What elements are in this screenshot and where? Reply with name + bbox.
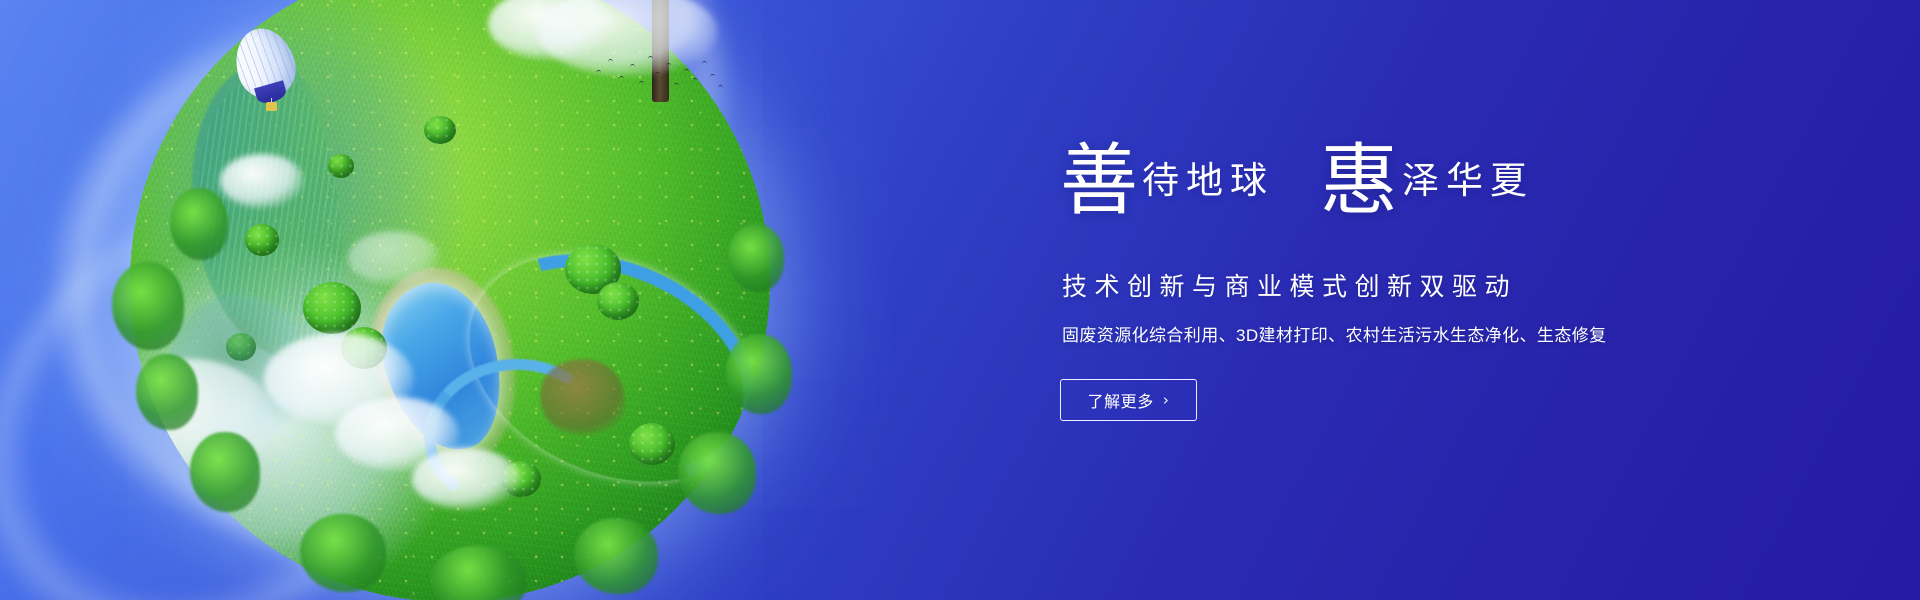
fringe-tree (136, 354, 198, 430)
hot-air-balloon (236, 28, 296, 124)
banner-description: 固废资源化综合利用、3D建材打印、农村生活污水生态净化、生态修复 (1062, 324, 1762, 348)
banner-subtitle: 技术创新与商业模式创新双驱动 (1062, 272, 1722, 302)
cloud (412, 448, 520, 510)
bush (424, 116, 456, 144)
bush (597, 282, 639, 320)
bird-icon (630, 64, 635, 67)
banner-headline: 善待地球惠泽华夏 (1060, 142, 1700, 232)
headline-char-shan: 善 (1060, 136, 1138, 226)
learn-more-label: 了解更多 (1087, 388, 1153, 412)
cloud (348, 231, 440, 285)
fringe-tree (728, 224, 784, 292)
headline-text-zehuaxia: 泽华夏 (1402, 159, 1534, 202)
bird-icon (718, 85, 723, 88)
bush (629, 423, 675, 465)
fringe-tree (300, 514, 386, 592)
bird-icon (596, 70, 601, 73)
bird-flock (592, 50, 732, 98)
bird-icon (693, 78, 698, 81)
bush (303, 282, 361, 334)
cloud (220, 154, 304, 208)
learn-more-button[interactable]: 了解更多 › (1060, 379, 1197, 421)
bird-icon (619, 76, 624, 79)
hero-banner: 善待地球惠泽华夏 技术创新与商业模式创新双驱动 固废资源化综合利用、3D建材打印… (0, 0, 1920, 600)
fringe-tree (190, 432, 260, 512)
fringe-tree (726, 334, 792, 414)
bird-icon (684, 69, 689, 72)
headline-text-daidiqiu: 待地球 (1142, 159, 1274, 202)
bird-icon (710, 74, 715, 77)
fringe-tree (678, 432, 756, 514)
bird-icon (702, 61, 707, 64)
fringe-tree (574, 518, 658, 594)
banner-content: 善待地球惠泽华夏 技术创新与商业模式创新双驱动 固废资源化综合利用、3D建材打印… (1060, 0, 1760, 600)
fringe-tree (170, 188, 228, 260)
bird-icon (674, 83, 679, 86)
headline-char-hui: 惠 (1320, 136, 1398, 226)
bird-icon (639, 81, 644, 84)
bird-icon (608, 59, 613, 62)
chevron-right-icon: › (1163, 393, 1170, 408)
bird-icon (655, 72, 660, 75)
balloon-basket (266, 102, 277, 111)
bird-icon (648, 56, 653, 59)
bird-icon (666, 63, 671, 66)
fringe-tree (112, 262, 184, 350)
